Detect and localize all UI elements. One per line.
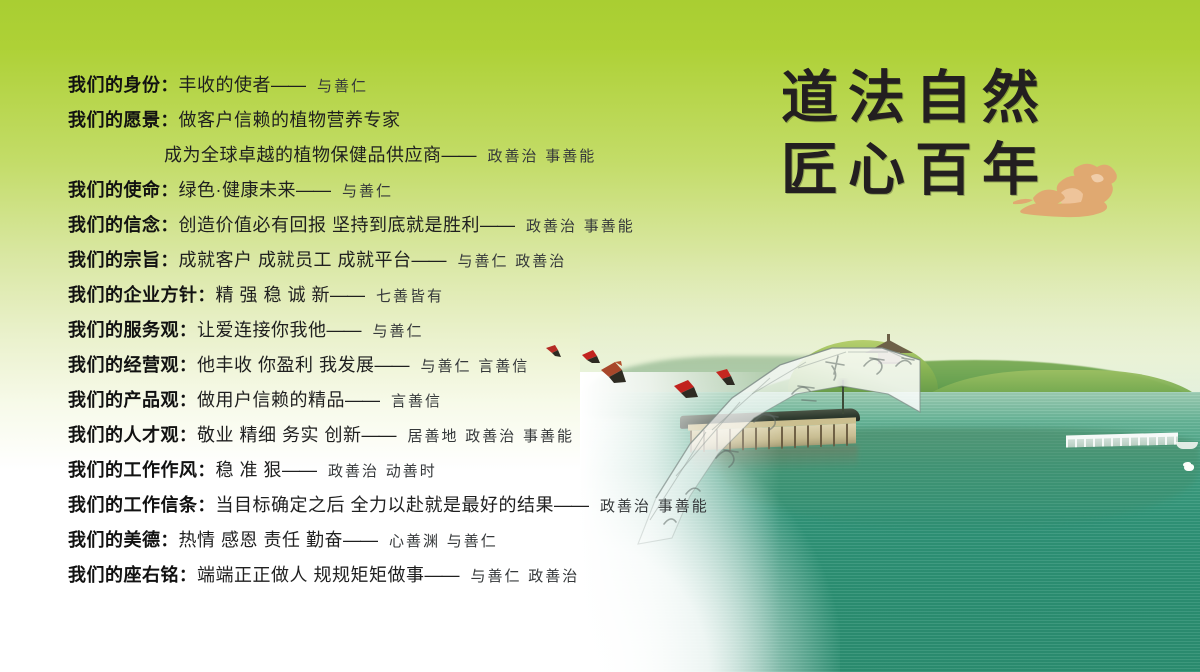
culture-line-label: 我们的愿景 xyxy=(68,110,161,130)
culture-line-colon: ： xyxy=(161,531,179,550)
auspicious-cloud-icon xyxy=(1013,158,1121,224)
culture-line-content: 当目标确定之后 全力以赴就是最好的结果 xyxy=(216,495,555,515)
culture-line-dash: —— xyxy=(425,565,459,585)
culture-line-content: 端端正正做人 规规矩矩做事 xyxy=(197,565,425,585)
culture-line-label: 我们的经营观 xyxy=(68,355,179,375)
culture-line-label: 我们的宗旨 xyxy=(68,250,161,270)
culture-line-dash: —— xyxy=(412,250,446,270)
culture-line-dash: —— xyxy=(296,180,330,200)
culture-line-tag: 政善治 事善能 xyxy=(488,147,597,165)
culture-line-tag: 政善治 动善时 xyxy=(328,462,437,480)
culture-line-label: 我们的美德 xyxy=(68,530,161,550)
culture-line-label: 我们的信念 xyxy=(68,215,161,235)
culture-line-label: 我们的使命 xyxy=(68,180,161,200)
culture-line-label: 我们的工作作风 xyxy=(68,460,198,480)
culture-line: 我们的工作作风：稳 准 狠——政善治 动善时 xyxy=(68,453,708,488)
culture-text-block: 我们的身份：丰收的使者——与善仁 我们的愿景：做客户信赖的植物营养专家 成为全球… xyxy=(68,68,708,593)
culture-line: 我们的美德：热情 感恩 责任 勤奋——心善渊 与善仁 xyxy=(68,523,708,558)
culture-line-label: 我们的座右铭 xyxy=(68,565,179,585)
culture-line-dash: —— xyxy=(343,530,377,550)
culture-line-colon: ： xyxy=(179,391,197,410)
culture-line-colon: ： xyxy=(161,111,179,130)
culture-line-dash: —— xyxy=(480,215,514,235)
culture-line-colon: ： xyxy=(179,566,197,585)
culture-line-colon: ： xyxy=(179,356,197,375)
culture-line-tag: 与善仁 政善治 xyxy=(471,567,580,585)
culture-line-colon: ： xyxy=(179,321,197,340)
culture-line-dash: —— xyxy=(282,460,316,480)
culture-line: 我们的座右铭：端端正正做人 规规矩矩做事——与善仁 政善治 xyxy=(68,558,708,593)
culture-line-content: 成就客户 成就员工 成就平台 xyxy=(179,250,412,270)
swan xyxy=(1184,464,1194,471)
culture-line: 我们的服务观：让爱连接你我他——与善仁 xyxy=(68,313,708,348)
culture-line-label: 我们的产品观 xyxy=(68,390,179,410)
culture-line-label: 我们的工作信条 xyxy=(68,495,198,515)
culture-line-dash: —— xyxy=(330,285,364,305)
culture-line-dash: —— xyxy=(345,390,379,410)
culture-line-label: 我们的人才观 xyxy=(68,425,179,445)
culture-line-content: 做用户信赖的精品 xyxy=(197,390,345,410)
culture-line-colon: ： xyxy=(198,461,216,480)
culture-line-dash: —— xyxy=(554,495,588,515)
culture-line-dash: —— xyxy=(442,145,476,165)
culture-line-dash: —— xyxy=(362,425,396,445)
culture-line-colon: ： xyxy=(161,76,179,95)
culture-line-colon: ： xyxy=(179,426,197,445)
culture-line-content: 热情 感恩 责任 勤奋 xyxy=(179,530,344,550)
culture-line-tag: 心善渊 与善仁 xyxy=(389,532,498,550)
culture-poster: 我们的身份：丰收的使者——与善仁 我们的愿景：做客户信赖的植物营养专家 成为全球… xyxy=(0,0,1200,672)
culture-line-colon: ： xyxy=(198,286,216,305)
culture-line-tag: 七善皆有 xyxy=(376,287,444,305)
culture-line-label: 我们的身份 xyxy=(68,75,161,95)
small-boat xyxy=(1176,442,1198,449)
culture-line-tag: 与善仁 言善信 xyxy=(421,357,530,375)
culture-line-content: 做客户信赖的植物营养专家 xyxy=(179,110,401,130)
culture-line-content: 敬业 精细 务实 创新 xyxy=(197,425,362,445)
culture-line: 我们的工作信条：当目标确定之后 全力以赴就是最好的结果——政善治 事善能 xyxy=(68,488,708,523)
culture-line-content: 精 强 稳 诚 新 xyxy=(216,285,331,305)
culture-line: 我们的信念：创造价值必有回报 坚持到底就是胜利——政善治 事善能 xyxy=(68,208,708,243)
culture-line-colon: ： xyxy=(161,251,179,270)
culture-line-tag: 与善仁 政善治 xyxy=(458,252,567,270)
culture-line-content: 他丰收 你盈利 我发展 xyxy=(197,355,375,375)
culture-line: 我们的使命：绿色·健康未来——与善仁 xyxy=(68,173,708,208)
bird-icon-5 xyxy=(712,368,738,388)
culture-line-content: 稳 准 狠 xyxy=(216,460,283,480)
culture-line-content: 让爱连接你我他 xyxy=(197,320,327,340)
slogan-block: 道法自然 匠心百年 xyxy=(745,62,1075,206)
culture-line-tag: 言善信 xyxy=(391,392,442,410)
culture-line-colon: ： xyxy=(161,216,179,235)
culture-line-colon: ： xyxy=(161,181,179,200)
culture-line: 我们的经营观：他丰收 你盈利 我发展——与善仁 言善信 xyxy=(68,348,708,383)
culture-line: 我们的愿景：做客户信赖的植物营养专家 xyxy=(68,103,708,138)
culture-line-tag: 与善仁 xyxy=(373,322,424,340)
culture-line: 我们的产品观：做用户信赖的精品——言善信 xyxy=(68,383,708,418)
culture-line: 成为全球卓越的植物保健品供应商——政善治 事善能 xyxy=(68,138,708,173)
culture-line-label: 我们的企业方针 xyxy=(68,285,198,305)
culture-line-tag: 政善治 事善能 xyxy=(600,497,709,515)
culture-line-tag: 政善治 事善能 xyxy=(526,217,635,235)
culture-line-colon: ： xyxy=(198,496,216,515)
culture-line: 我们的宗旨：成就客户 成就员工 成就平台——与善仁 政善治 xyxy=(68,243,708,278)
culture-line-content: 成为全球卓越的植物保健品供应商 xyxy=(164,145,442,165)
culture-line-dash: —— xyxy=(327,320,361,340)
culture-line-tag: 居善地 政善治 事善能 xyxy=(408,427,575,445)
culture-line: 我们的人才观：敬业 精细 务实 创新——居善地 政善治 事善能 xyxy=(68,418,708,453)
culture-line: 我们的身份：丰收的使者——与善仁 xyxy=(68,68,708,103)
culture-line-dash: —— xyxy=(375,355,409,375)
culture-line-tag: 与善仁 xyxy=(342,182,393,200)
culture-line-dash: —— xyxy=(271,75,305,95)
slogan-line-1: 道法自然 xyxy=(745,62,1075,134)
culture-line: 我们的企业方针：精 强 稳 诚 新——七善皆有 xyxy=(68,278,708,313)
culture-line-content: 创造价值必有回报 坚持到底就是胜利 xyxy=(179,215,481,235)
culture-line-content: 绿色·健康未来 xyxy=(179,180,297,200)
culture-line-label: 我们的服务观 xyxy=(68,320,179,340)
culture-line-tag: 与善仁 xyxy=(317,77,368,95)
culture-line-content: 丰收的使者 xyxy=(179,75,272,95)
